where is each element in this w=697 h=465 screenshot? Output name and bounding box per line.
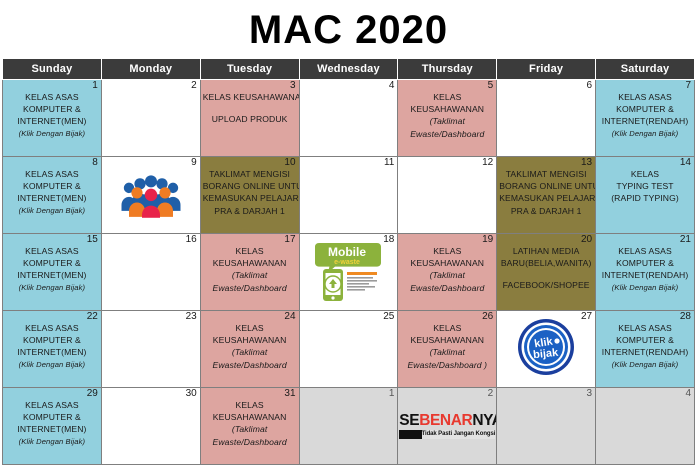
watermark-tagline: Tidak Pasti Jangan Kongsi	[422, 430, 496, 439]
event-line: TAKLIMAT MENGISI	[499, 168, 593, 180]
event-line: Ewaste/Dashboard	[203, 359, 297, 371]
event-line: Ewaste/Dashboard	[203, 282, 297, 294]
event-line: (Klik Dengan Bijak)	[5, 128, 99, 140]
event-line: KELAS ASAS	[598, 245, 692, 257]
day-number: 27	[581, 311, 592, 323]
event-line: KELAS	[400, 245, 494, 257]
calendar-day-cell[interactable]: 22KELAS ASASKOMPUTER &INTERNET(MEN)(Klik…	[3, 311, 102, 388]
day-number: 26	[482, 311, 493, 323]
day-number: 6	[587, 80, 593, 92]
calendar-day-cell[interactable]: 9	[101, 157, 200, 234]
event-line: KELAS ASAS	[598, 91, 692, 103]
svg-text:e-waste: e-waste	[335, 259, 361, 266]
people-group-icon	[120, 174, 182, 218]
event-line: Ewaste/Dashboard	[203, 436, 297, 448]
event-line: Ewaste/Dashboard )	[400, 359, 494, 371]
event-line: (Taklimat	[400, 269, 494, 281]
watermark-tagline-row: Tidak Pasti Jangan Kongsi	[399, 430, 495, 439]
event-line: (Klik Dengan Bijak)	[5, 205, 99, 217]
calendar-body: 1KELAS ASASKOMPUTER &INTERNET(MEN)(Klik …	[3, 80, 695, 465]
event-line: BORANG ONLINE UNTUK	[203, 180, 297, 192]
day-number: 11	[384, 157, 394, 169]
svg-text:Mobile: Mobile	[328, 245, 366, 259]
calendar-day-cell[interactable]: 14KELASTYPING TEST(RAPID TYPING)	[596, 157, 695, 234]
event-line: KELAS KEUSAHAWANAN	[203, 91, 297, 103]
day-number: 30	[186, 388, 197, 400]
calendar-day-cell[interactable]: 26KELASKEUSAHAWANAN(TaklimatEwaste/Dashb…	[398, 311, 497, 388]
day-event: KELAS KEUSAHAWANANUPLOAD PRODUK	[201, 80, 299, 127]
event-line: KEMASUKAN PELAJAR	[499, 192, 593, 204]
weekday-header-row: Sunday Monday Tuesday Wednesday Thursday…	[3, 59, 695, 80]
event-line: KEUSAHAWANAN	[400, 334, 494, 346]
calendar-day-cell[interactable]: 3	[497, 388, 596, 465]
calendar-day-cell[interactable]: 27 klik bijak	[497, 311, 596, 388]
calendar-day-cell[interactable]: 5KELASKEUSAHAWANAN(TaklimatEwaste/Dashbo…	[398, 80, 497, 157]
event-line: BARU(BELIA,WANITA)	[499, 257, 593, 269]
event-line: KELAS	[400, 322, 494, 334]
event-line: KOMPUTER &	[598, 257, 692, 269]
day-number: 1	[389, 388, 395, 400]
event-line: FACEBOOK/SHOPEE	[499, 279, 593, 291]
weekday-header-monday: Monday	[101, 59, 200, 80]
event-line: INTERNET(MEN)	[5, 269, 99, 281]
watermark-bar	[399, 430, 421, 439]
day-number: 2	[191, 80, 197, 92]
day-number: 9	[191, 157, 197, 169]
calendar-day-cell[interactable]: 2SEBENARNYA.MYTidak Pasti Jangan Kongsi	[398, 388, 497, 465]
event-line: KELAS ASAS	[5, 168, 99, 180]
calendar-day-cell[interactable]: 28KELAS ASASKOMPUTER &INTERNET(RENDAH)(K…	[596, 311, 695, 388]
event-line: (Klik Dengan Bijak)	[598, 282, 692, 294]
calendar-day-cell[interactable]: 24KELASKEUSAHAWANAN(TaklimatEwaste/Dashb…	[200, 311, 299, 388]
day-number: 5	[488, 80, 494, 92]
calendar-table: Sunday Monday Tuesday Wednesday Thursday…	[2, 58, 695, 465]
event-line: (Klik Dengan Bijak)	[598, 359, 692, 371]
event-line: KELAS	[203, 399, 297, 411]
event-line: INTERNET(MEN)	[5, 423, 99, 435]
day-number: 3	[290, 80, 296, 92]
calendar-day-cell[interactable]: 25	[299, 311, 398, 388]
event-line: (Klik Dengan Bijak)	[5, 436, 99, 448]
weekday-header-tuesday: Tuesday	[200, 59, 299, 80]
event-line: INTERNET(MEN)	[5, 115, 99, 127]
day-number: 8	[92, 157, 98, 169]
day-number: 20	[581, 234, 592, 246]
day-number: 17	[284, 234, 295, 246]
weekday-header-sunday: Sunday	[3, 59, 102, 80]
event-line: INTERNET(MEN)	[5, 346, 99, 358]
event-line: KOMPUTER &	[5, 103, 99, 115]
calendar-day-cell[interactable]: 16	[101, 234, 200, 311]
calendar-day-cell[interactable]: 6	[497, 80, 596, 157]
watermark-part-2: BENAR	[419, 412, 472, 429]
event-line: KEMASUKAN PELAJAR	[203, 192, 297, 204]
event-line: KELAS ASAS	[5, 245, 99, 257]
event-line: KOMPUTER &	[598, 103, 692, 115]
day-event: KELASKEUSAHAWANAN(TaklimatEwaste/Dashboa…	[398, 80, 496, 142]
event-line: TAKLIMAT MENGISI	[203, 168, 297, 180]
calendar-page: MAC 2020 Sunday Monday Tuesday Wednesday…	[0, 0, 697, 461]
day-event: KELAS ASASKOMPUTER &INTERNET(MEN)(Klik D…	[3, 80, 101, 142]
day-number: 31	[284, 388, 295, 400]
calendar-day-cell[interactable]: 15KELAS ASASKOMPUTER &INTERNET(MEN)(Klik…	[3, 234, 102, 311]
klik-bijak-logo: klik bijak	[517, 318, 575, 376]
day-number: 14	[680, 157, 691, 169]
event-line: KEUSAHAWANAN	[203, 257, 297, 269]
weekday-header-thursday: Thursday	[398, 59, 497, 80]
calendar-day-cell[interactable]: 4	[596, 388, 695, 465]
event-line: KOMPUTER &	[5, 334, 99, 346]
calendar-day-cell[interactable]: 1KELAS ASASKOMPUTER &INTERNET(MEN)(Klik …	[3, 80, 102, 157]
mobile-ewaste-poster: Mobile e-waste	[313, 239, 383, 305]
calendar-day-cell[interactable]: 2	[101, 80, 200, 157]
day-event: KELAS ASASKOMPUTER &INTERNET(MEN)(Klik D…	[3, 157, 101, 219]
day-number: 10	[284, 157, 295, 169]
watermark-part-1: SE	[399, 412, 419, 429]
event-line: KEUSAHAWANAN	[400, 257, 494, 269]
day-number: 23	[186, 311, 197, 323]
calendar-day-cell[interactable]: 18 Mobile e-waste	[299, 234, 398, 311]
event-line: (Taklimat	[203, 423, 297, 435]
event-line: Ewaste/Dashboard	[400, 128, 494, 140]
calendar-day-cell[interactable]: 8KELAS ASASKOMPUTER &INTERNET(MEN)(Klik …	[3, 157, 102, 234]
event-line: KEUSAHAWANAN	[203, 334, 297, 346]
calendar-week-row: 22KELAS ASASKOMPUTER &INTERNET(MEN)(Klik…	[3, 311, 695, 388]
event-line: KELAS ASAS	[5, 399, 99, 411]
day-number: 4	[685, 388, 691, 400]
event-line: (Taklimat	[400, 115, 494, 127]
calendar-day-cell[interactable]: 7KELAS ASASKOMPUTER &INTERNET(RENDAH)(Kl…	[596, 80, 695, 157]
calendar-day-cell[interactable]: 17KELASKEUSAHAWANAN(TaklimatEwaste/Dashb…	[200, 234, 299, 311]
event-line: LATIHAN MEDIA	[499, 245, 593, 257]
calendar-day-cell[interactable]: 21KELAS ASASKOMPUTER &INTERNET(RENDAH)(K…	[596, 234, 695, 311]
day-number: 19	[482, 234, 493, 246]
day-number: 16	[186, 234, 197, 246]
day-event: KELAS ASASKOMPUTER &INTERNET(RENDAH)(Kli…	[596, 80, 694, 142]
event-line: (Klik Dengan Bijak)	[5, 359, 99, 371]
event-line: (RAPID TYPING)	[598, 192, 692, 204]
event-line: KELAS	[203, 322, 297, 334]
event-line: KOMPUTER &	[5, 180, 99, 192]
event-line: INTERNET(RENDAH)	[598, 269, 692, 281]
calendar-week-row: 15KELAS ASASKOMPUTER &INTERNET(MEN)(Klik…	[3, 234, 695, 311]
calendar-day-cell[interactable]: 31KELASKEUSAHAWANAN(TaklimatEwaste/Dashb…	[200, 388, 299, 465]
watermark-wordmark: SEBENARNYA.MY	[399, 413, 495, 429]
event-line: INTERNET(RENDAH)	[598, 346, 692, 358]
event-line: (Klik Dengan Bijak)	[598, 128, 692, 140]
calendar-day-cell[interactable]: 4	[299, 80, 398, 157]
event-line: KOMPUTER &	[5, 411, 99, 423]
event-line: (Taklimat	[203, 269, 297, 281]
calendar-day-cell[interactable]: 11	[299, 157, 398, 234]
day-number: 2	[488, 388, 494, 400]
day-number: 13	[581, 157, 592, 169]
day-number: 12	[482, 157, 493, 169]
day-number: 28	[680, 311, 691, 323]
event-line: KOMPUTER &	[598, 334, 692, 346]
weekday-header-friday: Friday	[497, 59, 596, 80]
weekday-header-wednesday: Wednesday	[299, 59, 398, 80]
event-line: KELAS	[400, 91, 494, 103]
day-number: 21	[680, 234, 691, 246]
sebenarnya-watermark: SEBENARNYA.MYTidak Pasti Jangan Kongsi	[399, 413, 495, 439]
calendar-day-cell[interactable]: 3KELAS KEUSAHAWANANUPLOAD PRODUK	[200, 80, 299, 157]
calendar-week-row: 29KELAS ASASKOMPUTER &INTERNET(MEN)(Klik…	[3, 388, 695, 465]
event-line: KELAS ASAS	[5, 91, 99, 103]
calendar-day-cell[interactable]: 12	[398, 157, 497, 234]
day-number: 22	[87, 311, 98, 323]
event-line: TYPING TEST	[598, 180, 692, 192]
day-number: 7	[685, 80, 691, 92]
page-title: MAC 2020	[0, 0, 697, 58]
event-line: (Taklimat	[203, 346, 297, 358]
day-number: 29	[87, 388, 98, 400]
day-number: 25	[383, 311, 394, 323]
event-line: (Klik Dengan Bijak)	[5, 282, 99, 294]
day-number: 1	[92, 80, 98, 92]
weekday-header-saturday: Saturday	[596, 59, 695, 80]
event-line: KOMPUTER &	[5, 257, 99, 269]
calendar-day-cell[interactable]: 30	[101, 388, 200, 465]
calendar-day-cell[interactable]: 19KELASKEUSAHAWANAN(TaklimatEwaste/Dashb…	[398, 234, 497, 311]
event-line: KELAS	[598, 168, 692, 180]
day-number: 24	[284, 311, 295, 323]
event-spacer	[499, 269, 593, 279]
event-line: KELAS	[203, 245, 297, 257]
calendar-day-cell[interactable]: 10TAKLIMAT MENGISIBORANG ONLINE UNTUKKEM…	[200, 157, 299, 234]
watermark-part-3: NYA.MY	[472, 412, 496, 429]
event-line: INTERNET(RENDAH)	[598, 115, 692, 127]
event-line: KEUSAHAWANAN	[400, 103, 494, 115]
event-line: KEUSAHAWANAN	[203, 411, 297, 423]
day-number: 3	[587, 388, 593, 400]
event-line: KELAS ASAS	[598, 322, 692, 334]
event-line: INTERNET(MEN)	[5, 192, 99, 204]
event-line: PRA & DARJAH 1	[203, 205, 297, 217]
event-line: UPLOAD PRODUK	[203, 113, 297, 125]
calendar-day-cell[interactable]: 23	[101, 311, 200, 388]
event-line: KELAS ASAS	[5, 322, 99, 334]
event-line: BORANG ONLINE UNTUK	[499, 180, 593, 192]
calendar-week-row: 8KELAS ASASKOMPUTER &INTERNET(MEN)(Klik …	[3, 157, 695, 234]
day-number: 4	[389, 80, 395, 92]
calendar-day-cell[interactable]: 13TAKLIMAT MENGISIBORANG ONLINE UNTUKKEM…	[497, 157, 596, 234]
day-number: 15	[87, 234, 98, 246]
event-line: Ewaste/Dashboard	[400, 282, 494, 294]
event-line: PRA & DARJAH 1	[499, 205, 593, 217]
event-spacer	[203, 103, 297, 113]
calendar-week-row: 1KELAS ASASKOMPUTER &INTERNET(MEN)(Klik …	[3, 80, 695, 157]
calendar-day-cell[interactable]: 1	[299, 388, 398, 465]
calendar-day-cell[interactable]: 29KELAS ASASKOMPUTER &INTERNET(MEN)(Klik…	[3, 388, 102, 465]
day-number: 18	[383, 234, 394, 246]
event-line: (Taklimat	[400, 346, 494, 358]
calendar-day-cell[interactable]: 20LATIHAN MEDIABARU(BELIA,WANITA)FACEBOO…	[497, 234, 596, 311]
